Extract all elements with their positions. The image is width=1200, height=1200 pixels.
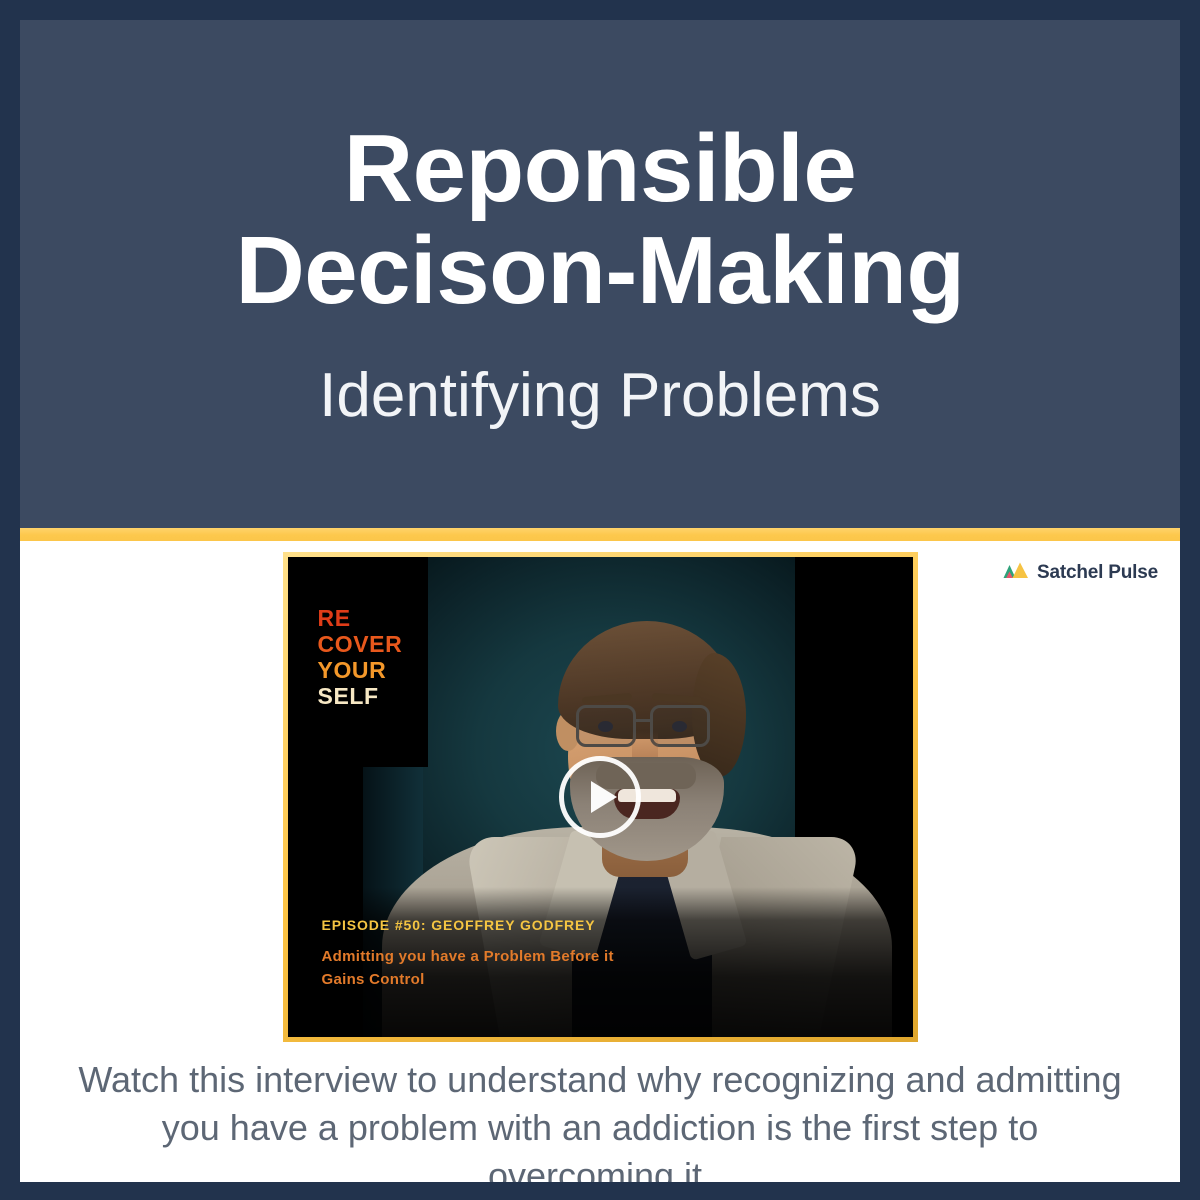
slide-body: Satchel Pulse bbox=[20, 541, 1180, 1182]
poster-title-line-4: SELF bbox=[318, 683, 428, 709]
poster-title-line-3: YOUR bbox=[318, 657, 428, 683]
brand-name: Satchel Pulse bbox=[1037, 562, 1158, 584]
slide-root: Reponsible Decison-Making Identifying Pr… bbox=[0, 0, 1200, 1200]
video-player[interactable]: RE COVER YOUR SELF EPISODE #50: GEOFFREY… bbox=[283, 552, 918, 1042]
slide-inner: Reponsible Decison-Making Identifying Pr… bbox=[20, 20, 1180, 1182]
play-button-icon[interactable] bbox=[559, 756, 641, 838]
slide-caption: Watch this interview to understand why r… bbox=[70, 1056, 1130, 1182]
episode-title: Admitting you have a Problem Before it G… bbox=[322, 946, 652, 991]
page-title: Reponsible Decison-Making bbox=[150, 118, 1050, 322]
video-poster: RE COVER YOUR SELF EPISODE #50: GEOFFREY… bbox=[288, 557, 913, 1037]
page-subtitle: Identifying Problems bbox=[319, 362, 881, 430]
brand-logo: Satchel Pulse bbox=[1003, 561, 1158, 584]
accent-divider bbox=[20, 528, 1180, 541]
poster-title-panel: RE COVER YOUR SELF bbox=[288, 557, 428, 767]
poster-title-line-2: COVER bbox=[318, 631, 428, 657]
mountains-logo-icon bbox=[1003, 561, 1029, 584]
poster-title-line-1: RE bbox=[318, 605, 428, 631]
eyeglass-lens-right bbox=[650, 705, 710, 747]
episode-label: EPISODE #50: GEOFFREY GODFREY bbox=[322, 917, 879, 933]
slide-header: Reponsible Decison-Making Identifying Pr… bbox=[20, 20, 1180, 528]
video-caption-overlay: EPISODE #50: GEOFFREY GODFREY Admitting … bbox=[288, 887, 913, 1037]
eyeglass-lens-left bbox=[576, 705, 636, 747]
eyeglass-bridge bbox=[636, 719, 650, 722]
